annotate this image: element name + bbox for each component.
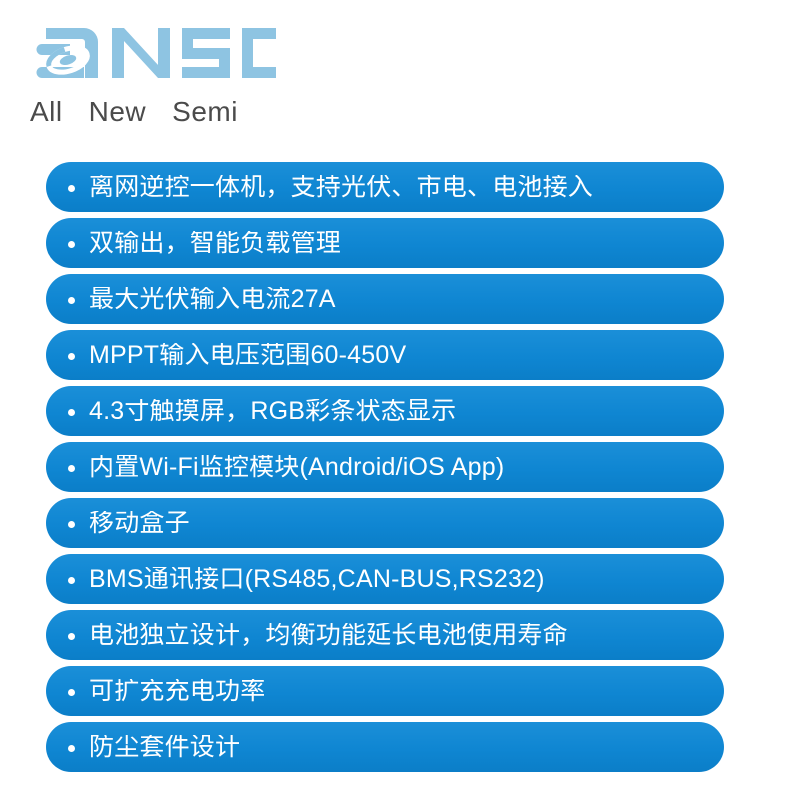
feature-pill: 电池独立设计，均衡功能延长电池使用寿命	[46, 610, 724, 660]
feature-pill: 双输出，智能负载管理	[46, 218, 724, 268]
tagline-word-3: Semi	[172, 96, 238, 128]
bullet-dot-icon	[68, 353, 75, 360]
feature-pill: 离网逆控一体机，支持光伏、市电、电池接入	[46, 162, 724, 212]
feature-text: 4.3寸触摸屏，RGB彩条状态显示	[89, 399, 704, 424]
feature-pill: 防尘套件设计	[46, 722, 724, 772]
brand-tagline: All New Semi	[30, 92, 300, 132]
feature-text: 电池独立设计，均衡功能延长电池使用寿命	[89, 623, 704, 648]
bullet-dot-icon	[68, 577, 75, 584]
feature-pill: 内置Wi-Fi监控模块(Android/iOS App)	[46, 442, 724, 492]
feature-pill: 4.3寸触摸屏，RGB彩条状态显示	[46, 386, 724, 436]
bullet-dot-icon	[68, 521, 75, 528]
bullet-dot-icon	[68, 297, 75, 304]
tagline-word-1: All	[30, 96, 63, 128]
ansc-logo-mark	[36, 14, 276, 86]
feature-text: 最大光伏输入电流27A	[89, 287, 704, 312]
feature-pill: BMS通讯接口(RS485,CAN-BUS,RS232)	[46, 554, 724, 604]
bullet-dot-icon	[68, 633, 75, 640]
bullet-dot-icon	[68, 689, 75, 696]
bullet-dot-icon	[68, 409, 75, 416]
bullet-dot-icon	[68, 465, 75, 472]
feature-text: 离网逆控一体机，支持光伏、市电、电池接入	[89, 175, 704, 200]
tagline-word-2: New	[89, 96, 147, 128]
bullet-dot-icon	[68, 185, 75, 192]
feature-text: 移动盒子	[89, 511, 704, 536]
feature-text: 内置Wi-Fi监控模块(Android/iOS App)	[89, 455, 704, 480]
feature-pill: 移动盒子	[46, 498, 724, 548]
bullet-dot-icon	[68, 745, 75, 752]
feature-list: 离网逆控一体机，支持光伏、市电、电池接入 双输出，智能负载管理 最大光伏输入电流…	[46, 162, 724, 772]
brand-header: All New Semi	[16, 14, 316, 134]
feature-text: MPPT输入电压范围60-450V	[89, 343, 704, 368]
feature-pill: MPPT输入电压范围60-450V	[46, 330, 724, 380]
feature-text: 双输出，智能负载管理	[89, 231, 704, 256]
feature-text: 防尘套件设计	[89, 735, 704, 760]
product-feature-slide: All New Semi 离网逆控一体机，支持光伏、市电、电池接入 双输出，智能…	[0, 0, 800, 800]
feature-pill: 最大光伏输入电流27A	[46, 274, 724, 324]
bullet-dot-icon	[68, 241, 75, 248]
feature-pill: 可扩充充电功率	[46, 666, 724, 716]
feature-text: BMS通讯接口(RS485,CAN-BUS,RS232)	[89, 567, 704, 592]
feature-text: 可扩充充电功率	[89, 679, 704, 704]
